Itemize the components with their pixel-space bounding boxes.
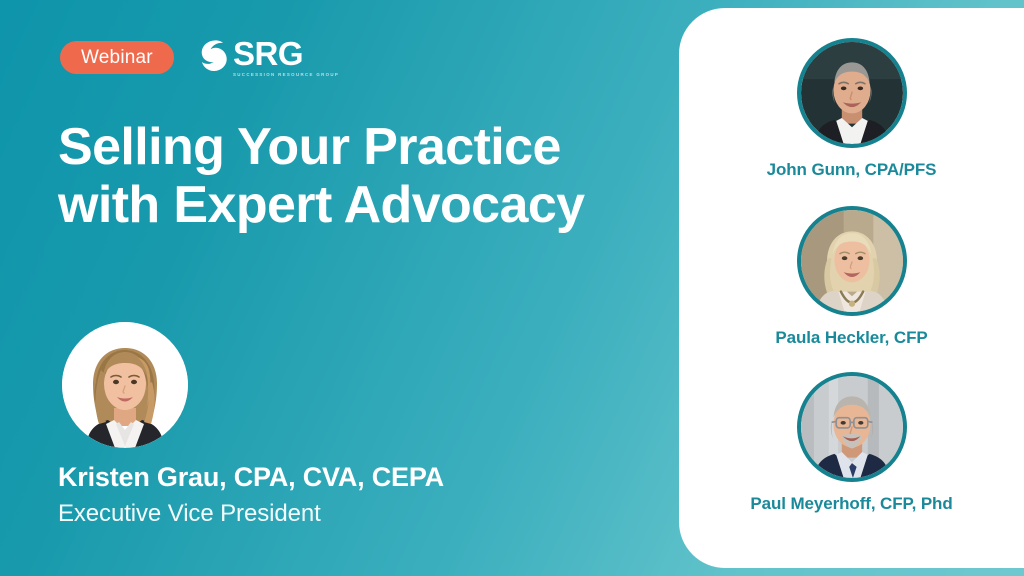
srg-swirl-icon xyxy=(196,38,230,76)
speaker-item: Paul Meyerhoff, CFP, Phd xyxy=(679,372,1024,514)
speaker-name: John Gunn, CPA/PFS xyxy=(767,160,937,180)
srg-logo: SRG SUCCESSION RESOURCE GROUP xyxy=(196,36,339,78)
page-title: Selling Your Practice with Expert Advoca… xyxy=(58,118,668,234)
srg-wordmark-group: SRG SUCCESSION RESOURCE GROUP xyxy=(233,37,339,78)
host-name: Kristen Grau, CPA, CVA, CEPA xyxy=(58,462,444,493)
speaker-avatar xyxy=(797,206,907,316)
speaker-avatar xyxy=(797,38,907,148)
webinar-promo-slide: Webinar SRG SUCCESSION RESOURCE GROUP Se… xyxy=(0,0,1024,576)
srg-tagline: SUCCESSION RESOURCE GROUP xyxy=(233,72,339,77)
speaker-item: Paula Heckler, CFP xyxy=(679,206,1024,348)
webinar-badge-label: Webinar xyxy=(81,48,153,67)
title-line-2: with Expert Advocacy xyxy=(58,176,584,234)
speaker-item: John Gunn, CPA/PFS xyxy=(679,38,1024,180)
title-line-1: Selling Your Practice xyxy=(58,118,561,176)
speaker-name: Paul Meyerhoff, CFP, Phd xyxy=(750,494,952,514)
host-role: Executive Vice President xyxy=(58,500,321,528)
host-avatar xyxy=(62,322,188,448)
speaker-avatar xyxy=(797,372,907,482)
speaker-name: Paula Heckler, CFP xyxy=(775,328,927,348)
webinar-badge: Webinar xyxy=(60,41,174,74)
speakers-panel: John Gunn, CPA/PFS xyxy=(679,8,1024,568)
srg-wordmark: SRG xyxy=(233,37,339,70)
